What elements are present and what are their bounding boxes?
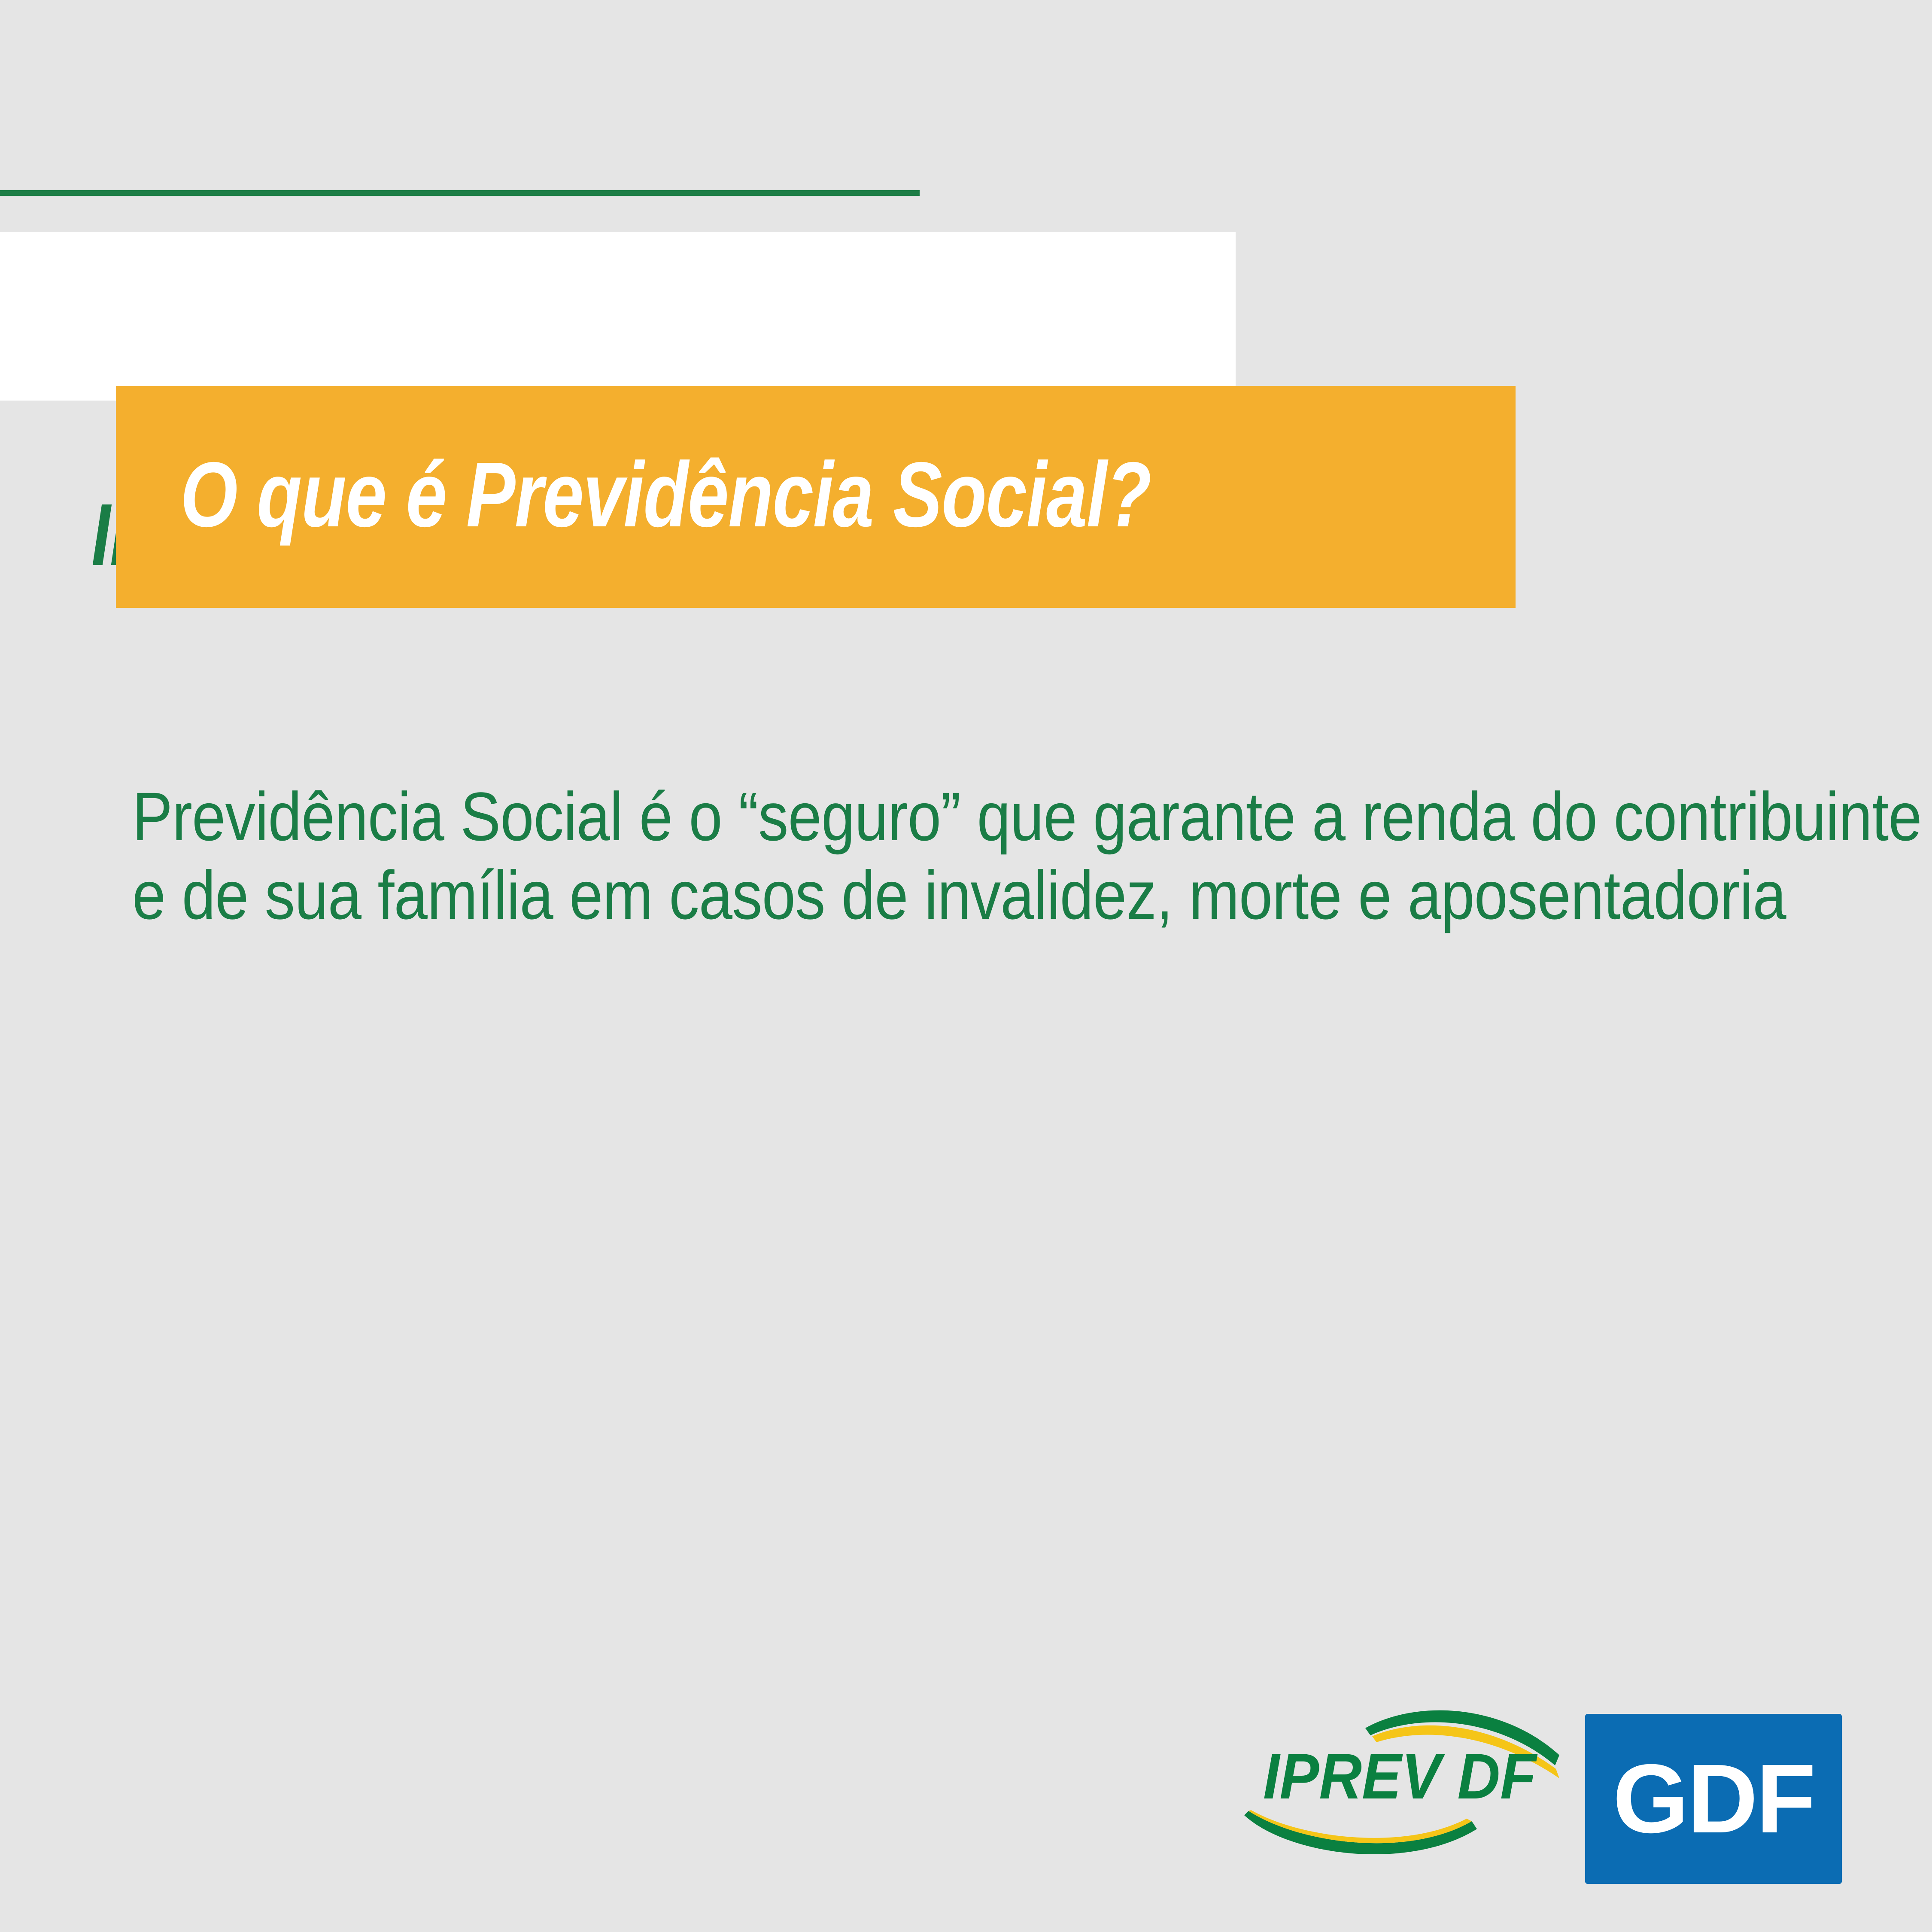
footer-logos: IPREV DF GDF	[1236, 1687, 1846, 1889]
headline-text: O que é Previdência Social?	[180, 441, 1151, 548]
headline-plate: O que é Previdência Social?	[116, 386, 1516, 608]
poster-canvas: IPREV explica: O que é Previdência Socia…	[0, 0, 1932, 1932]
header-rule	[0, 190, 920, 196]
iprev-df-logo: IPREV DF	[1236, 1687, 1563, 1868]
gdf-logo: GDF	[1585, 1714, 1842, 1884]
body-copy: Previdência Social é o “seguro” que gara…	[132, 786, 1643, 943]
body-line-2: e de sua família em casos de invalidez, …	[132, 864, 1643, 943]
iprev-df-wordmark: IPREV DF	[1263, 1744, 1536, 1808]
eyebrow-plate: IPREV explica:	[0, 232, 1236, 401]
gdf-wordmark: GDF	[1585, 1714, 1842, 1884]
body-line-1: Previdência Social é o “seguro” que gara…	[132, 786, 1643, 864]
